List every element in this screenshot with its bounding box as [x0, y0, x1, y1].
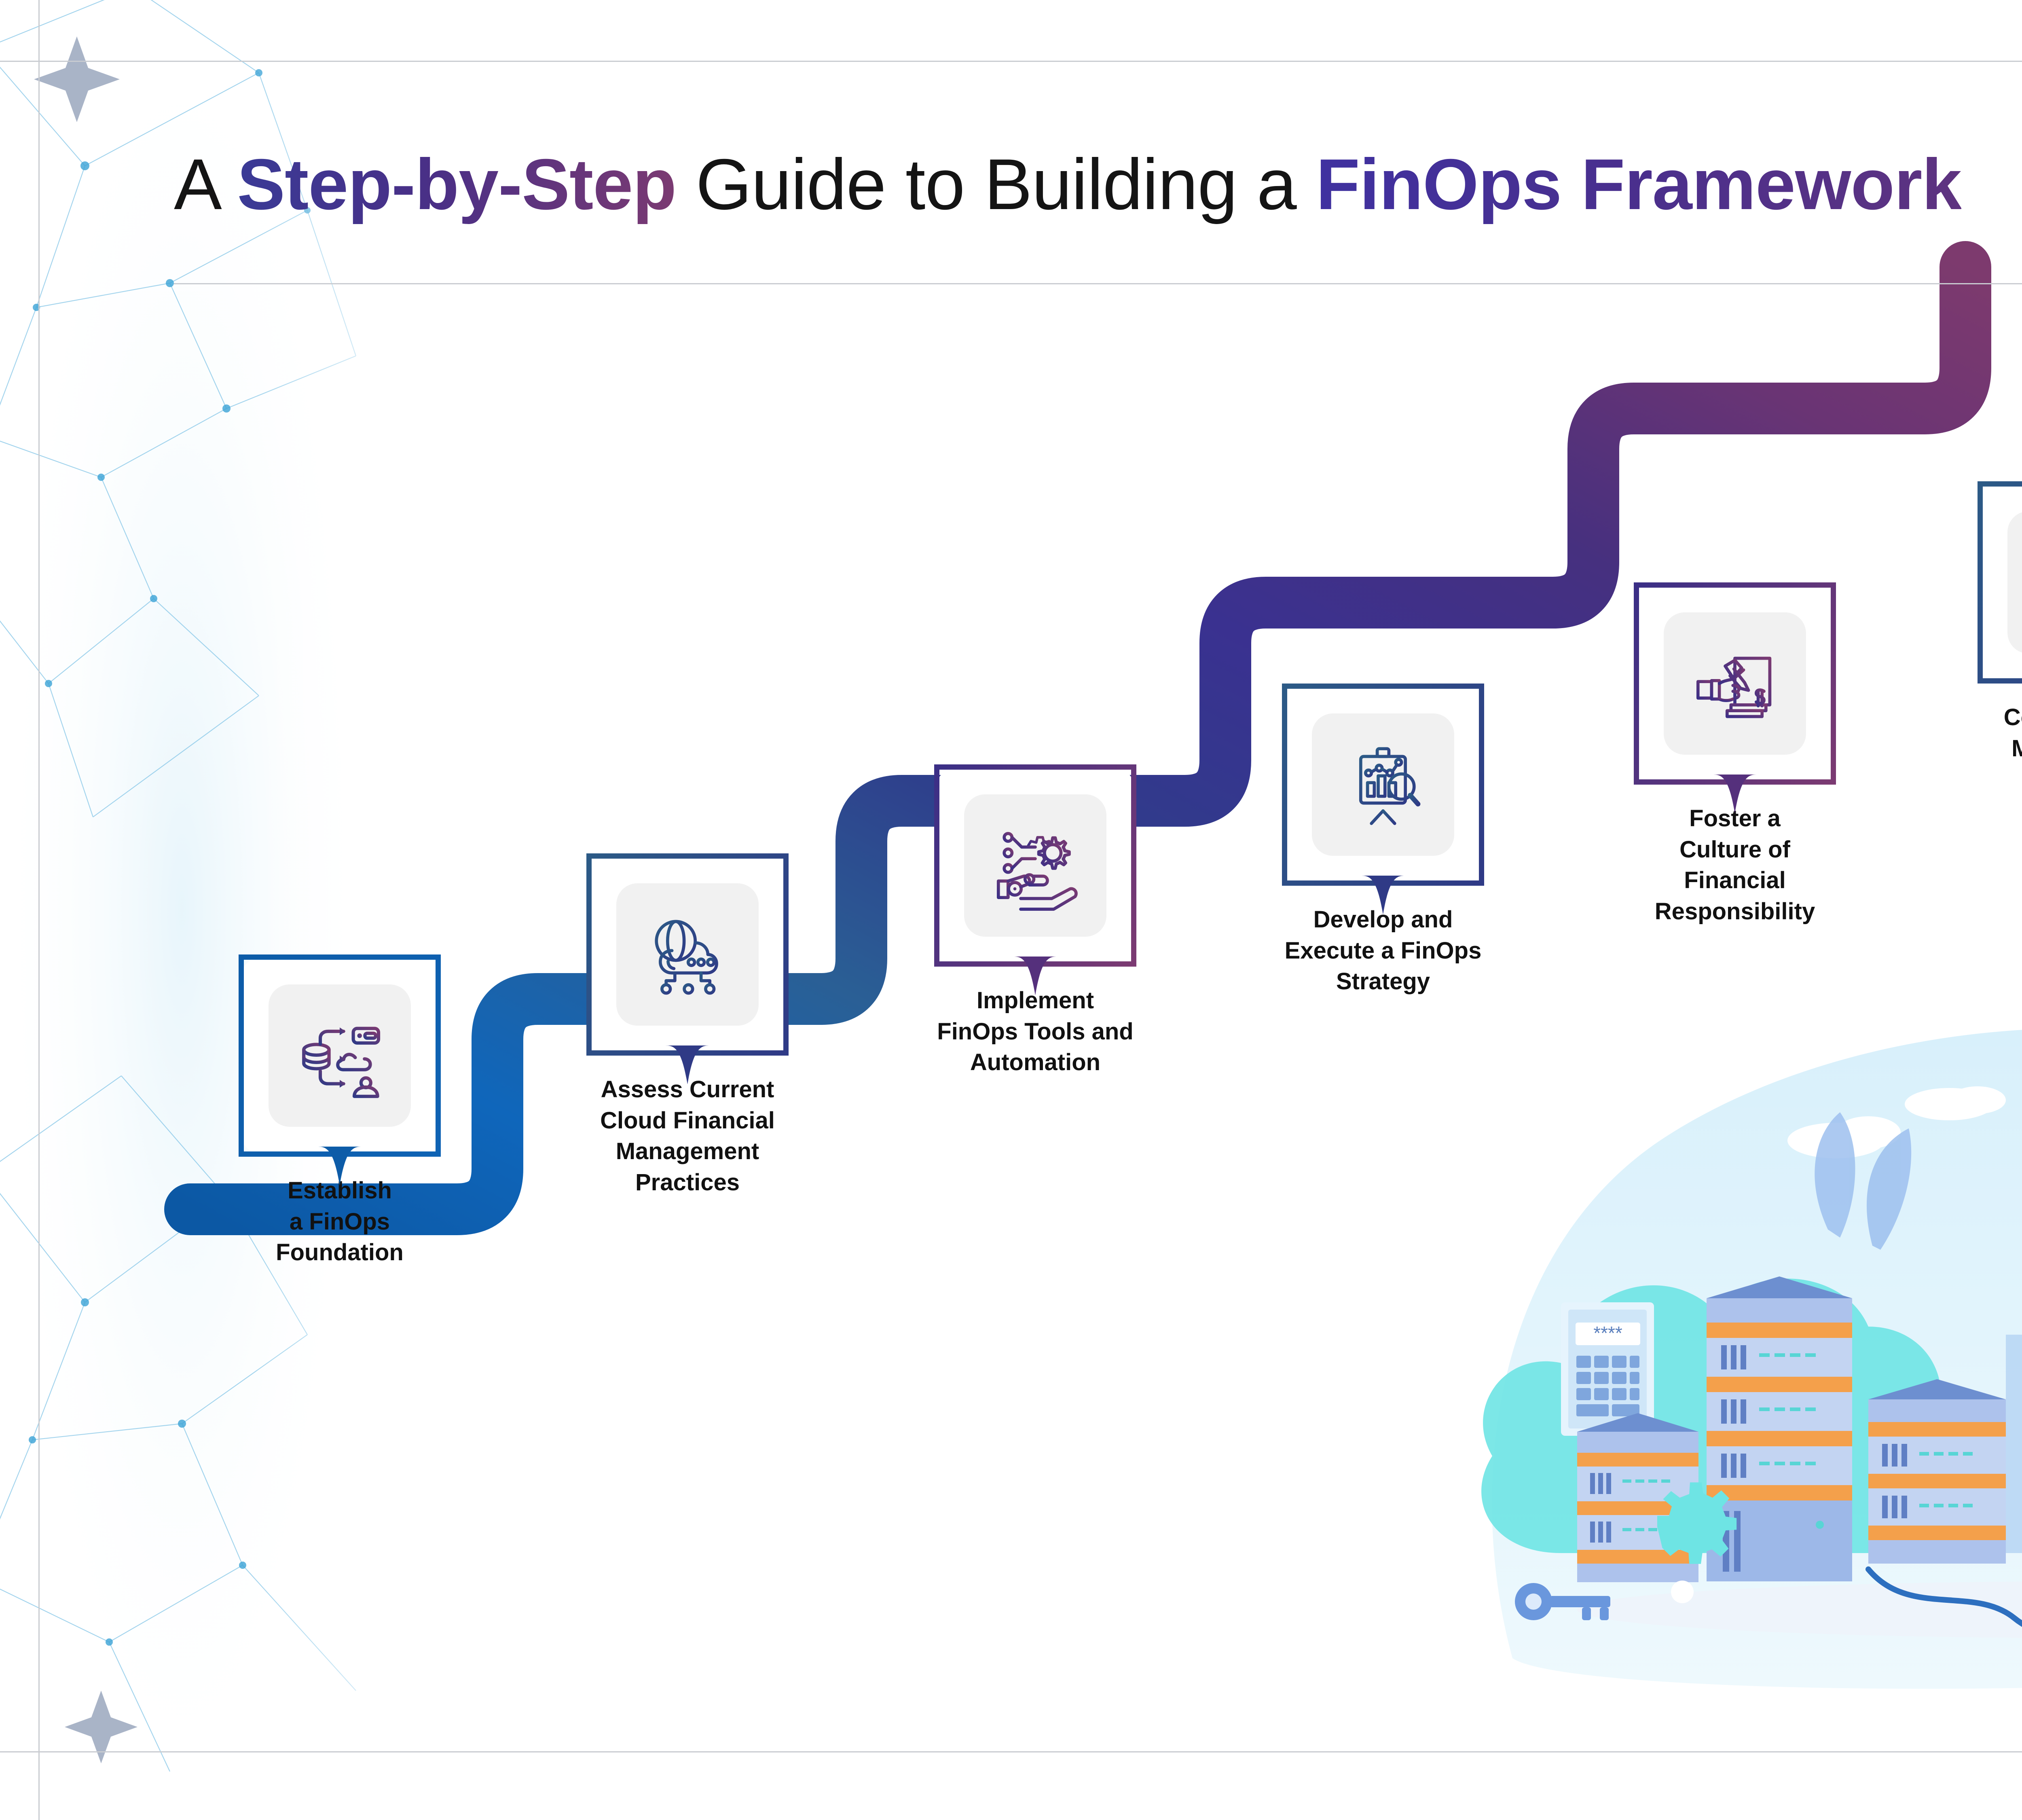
ground-shadow: [1577, 1581, 2022, 1638]
frame-line-bottom: [0, 1751, 2022, 1752]
card-tail-3: [1013, 957, 1058, 995]
step-card-4[interactable]: [1282, 684, 1484, 886]
card-tail-1: [317, 1147, 362, 1185]
step-icon-box-4: [1312, 713, 1454, 856]
step-label-2: Assess Current Cloud Financial Managemen…: [586, 1074, 789, 1198]
presentation-chart-search-icon: [1335, 736, 1432, 833]
gear-icons: [1657, 1482, 2022, 1617]
title-highlight-finops-framework: FinOps Framework: [1316, 144, 1961, 224]
step-icon-box-1: [269, 984, 411, 1127]
title-highlight-step-by-step: Step-by-Step: [237, 144, 676, 224]
server-stacks: [1577, 1276, 2006, 1582]
calculator-password: ****: [1561, 1302, 1654, 1436]
decorative-leaves: [1815, 1112, 2022, 1687]
cloud-datacenter-people-illustration: ****: [1440, 1003, 2022, 1771]
card-tail-5: [1713, 775, 1757, 813]
frame-line-top: [0, 61, 2022, 62]
title-prefix: A: [174, 144, 237, 224]
step-icon-box-5: [1664, 612, 1806, 755]
step-label-3: Implement FinOps Tools and Automation: [934, 985, 1136, 1078]
step-icon-box-6: [2007, 511, 2022, 654]
step-icon-box-3: [964, 794, 1106, 937]
svg-text:****: ****: [1593, 1323, 1622, 1344]
hand-signing-invoice-dollar-icon: [1686, 635, 1783, 732]
city-skyline: [2006, 1048, 2022, 1553]
step-2[interactable]: Assess Current Cloud Financial Managemen…: [586, 853, 789, 1198]
step-card-2[interactable]: [586, 853, 789, 1056]
step-label-1: Establish a FinOps Foundation: [239, 1175, 441, 1268]
background-blob: [1492, 1028, 2022, 1689]
title-underline-rule: [174, 283, 2022, 284]
step-label-4: Develop and Execute a FinOps Strategy: [1282, 904, 1484, 997]
key-icon: [1515, 1583, 1610, 1620]
card-tail-2: [665, 1045, 710, 1084]
card-tail-4: [1361, 876, 1405, 914]
step-6[interactable]: Continuously Monitor and Optimize: [1978, 481, 2022, 795]
clouds: [1787, 1086, 2022, 1158]
page-title: A Step-by-Step Guide to Building a FinOp…: [174, 146, 2022, 223]
step-3[interactable]: Implement FinOps Tools and Automation: [934, 764, 1136, 1078]
step-card-3[interactable]: [934, 764, 1136, 967]
globe-cloud-network-icon: [639, 906, 736, 1003]
step-card-5[interactable]: [1634, 582, 1836, 785]
step-5[interactable]: Foster a Culture of Financial Responsibi…: [1634, 582, 1836, 927]
cable: [1868, 1529, 2022, 1641]
frame-line-left: [38, 0, 40, 1820]
step-icon-box-2: [616, 883, 759, 1026]
hand-gear-automation-icon: [987, 817, 1084, 914]
database-to-cloud-user-icon: [291, 1007, 388, 1104]
step-label-5: Foster a Culture of Financial Responsibi…: [1634, 803, 1836, 927]
step-1[interactable]: Establish a FinOps Foundation: [239, 954, 441, 1268]
step-4[interactable]: Develop and Execute a FinOps Strategy: [1282, 684, 1484, 997]
step-card-1[interactable]: [239, 954, 441, 1157]
title-block: A Step-by-Step Guide to Building a FinOp…: [174, 146, 2022, 223]
step-card-6[interactable]: [1978, 481, 2022, 684]
step-label-6: Continuously Monitor and Optimize: [1978, 702, 2022, 795]
cloud-shape: [1481, 1278, 1946, 1553]
title-middle: Guide to Building a: [676, 144, 1316, 224]
